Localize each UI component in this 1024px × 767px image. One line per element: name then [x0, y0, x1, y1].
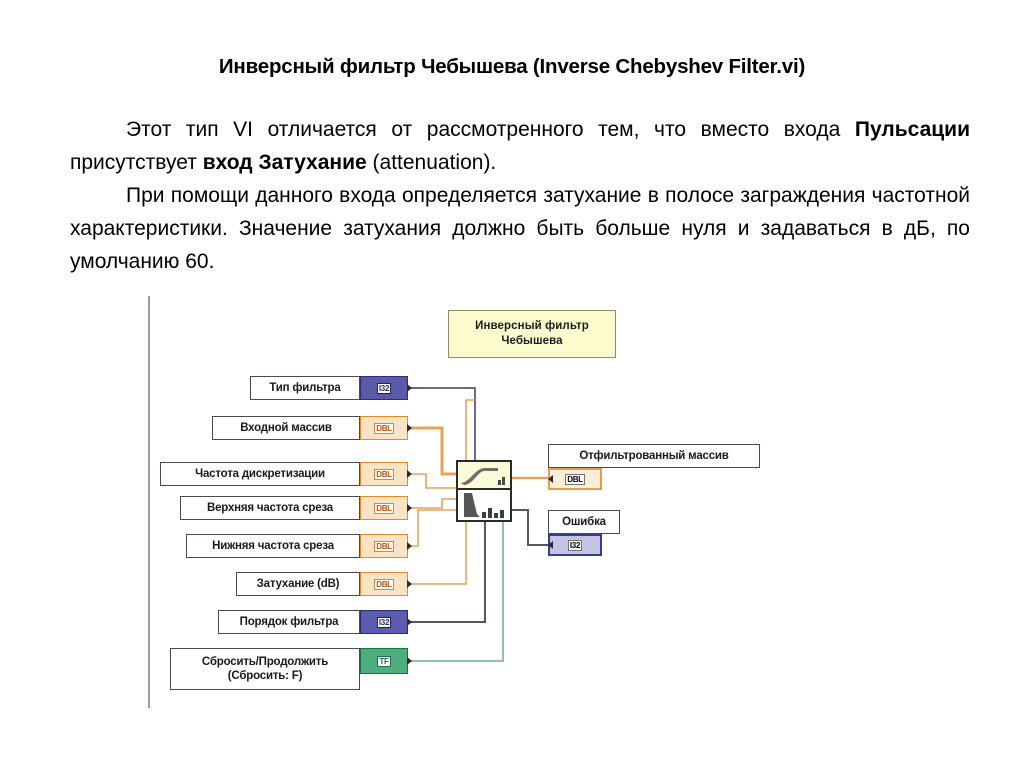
paragraph-1-mid: присутствует — [70, 151, 203, 174]
terminal-filter-order-type: I32 — [377, 617, 391, 628]
terminal-arrow-icon — [407, 618, 412, 626]
wire-reset-continue — [408, 521, 503, 661]
vi-node-icon-top — [458, 462, 510, 490]
terminal-arrow-icon — [407, 657, 412, 665]
terminal-arrow-icon — [548, 541, 553, 549]
terminal-reset-continue[interactable]: TF — [360, 648, 408, 674]
paragraph-2: При помощи данного входа определяется за… — [70, 179, 970, 278]
labview-block-diagram: Инверсный фильтр Чебышева Тип фильтра I3… — [148, 296, 790, 708]
terminal-input-array-type: DBL — [374, 423, 394, 434]
stopband-plot-icon — [458, 490, 510, 522]
input-row-filter-order: Порядок фильтра — [218, 610, 360, 634]
terminal-input-array[interactable]: DBL — [360, 416, 408, 440]
label-input-array: Входной массив — [212, 416, 360, 440]
terminal-arrow-icon — [407, 580, 412, 588]
terminal-filter-order[interactable]: I32 — [360, 610, 408, 634]
inverse-chebyshev-filter-vi-node[interactable] — [456, 460, 512, 522]
terminal-high-cutoff-type: DBL — [374, 503, 394, 514]
terminal-high-cutoff[interactable]: DBL — [360, 496, 408, 520]
input-row-attenuation: Затухание (dB) — [236, 572, 360, 596]
filter-response-curve-icon — [458, 462, 510, 489]
terminal-reset-continue-type: TF — [377, 656, 390, 667]
paragraph-1: Этот тип VI отличается от рассмотренного… — [70, 113, 970, 179]
terminal-sampling-rate-type: DBL — [374, 469, 394, 480]
label-filter-type: Тип фильтра — [250, 376, 360, 400]
wire-filter-order — [408, 521, 485, 622]
terminal-low-cutoff-type: DBL — [374, 541, 394, 552]
wire-error-out — [512, 510, 548, 545]
terminal-filtered-array[interactable]: DBL — [548, 468, 602, 490]
terminal-low-cutoff[interactable]: DBL — [360, 534, 408, 558]
terminal-arrow-icon — [407, 542, 412, 550]
terminal-attenuation-type: DBL — [374, 579, 394, 590]
label-low-cutoff: Нижняя частота среза — [186, 534, 360, 558]
terminal-error[interactable]: I32 — [548, 534, 602, 556]
terminal-arrow-icon — [407, 470, 412, 478]
terminal-arrow-icon — [548, 475, 553, 483]
page-title: Инверсный фильтр Чебышева (Inverse Cheby… — [0, 55, 1024, 79]
label-filtered-array: Отфильтрованный массив — [548, 444, 760, 468]
label-reset-continue: Сбросить/Продолжить (Сбросить: F) — [170, 648, 360, 690]
terminal-filter-type[interactable]: I32 — [360, 376, 408, 400]
terminal-arrow-icon — [407, 384, 412, 392]
input-row-high-cutoff: Верхняя частота среза — [180, 496, 360, 520]
input-row-input-array: Входной массив — [212, 416, 360, 440]
input-row-sampling-rate: Частота дискретизации — [160, 462, 360, 486]
vi-node-icon-bottom — [458, 490, 510, 522]
label-filter-order: Порядок фильтра — [218, 610, 360, 634]
vi-title-banner: Инверсный фильтр Чебышева — [448, 310, 616, 358]
wire-low-cutoff — [408, 510, 456, 546]
terminal-filtered-array-type: DBL — [565, 474, 585, 485]
terminal-filter-type-type: I32 — [377, 383, 391, 394]
label-high-cutoff: Верхняя частота среза — [180, 496, 360, 520]
paragraph-1-tail: (attenuation). — [367, 151, 497, 174]
wire-high-cutoff — [408, 499, 456, 508]
terminal-error-type: I32 — [568, 540, 582, 551]
wire-input-array — [408, 428, 456, 474]
paragraph-1-bold-pulsation: Пульсации — [855, 118, 970, 141]
label-error: Ошибка — [548, 510, 620, 534]
input-row-reset-continue: Сбросить/Продолжить (Сбросить: F) — [170, 648, 360, 690]
body-text: Этот тип VI отличается от рассмотренного… — [70, 113, 970, 278]
terminal-arrow-icon — [407, 424, 412, 432]
terminal-arrow-icon — [407, 504, 412, 512]
terminal-attenuation[interactable]: DBL — [360, 572, 408, 596]
terminal-sampling-rate[interactable]: DBL — [360, 462, 408, 486]
input-row-filter-type: Тип фильтра — [250, 376, 360, 400]
label-sampling-rate: Частота дискретизации — [160, 462, 360, 486]
paragraph-1-lead: Этот тип VI отличается от рассмотренного… — [126, 118, 855, 141]
label-attenuation: Затухание (dB) — [236, 572, 360, 596]
paragraph-1-bold-attenuation: вход Затухание — [203, 151, 367, 174]
input-row-low-cutoff: Нижняя частота среза — [186, 534, 360, 558]
wire-sampling-rate — [408, 474, 456, 488]
